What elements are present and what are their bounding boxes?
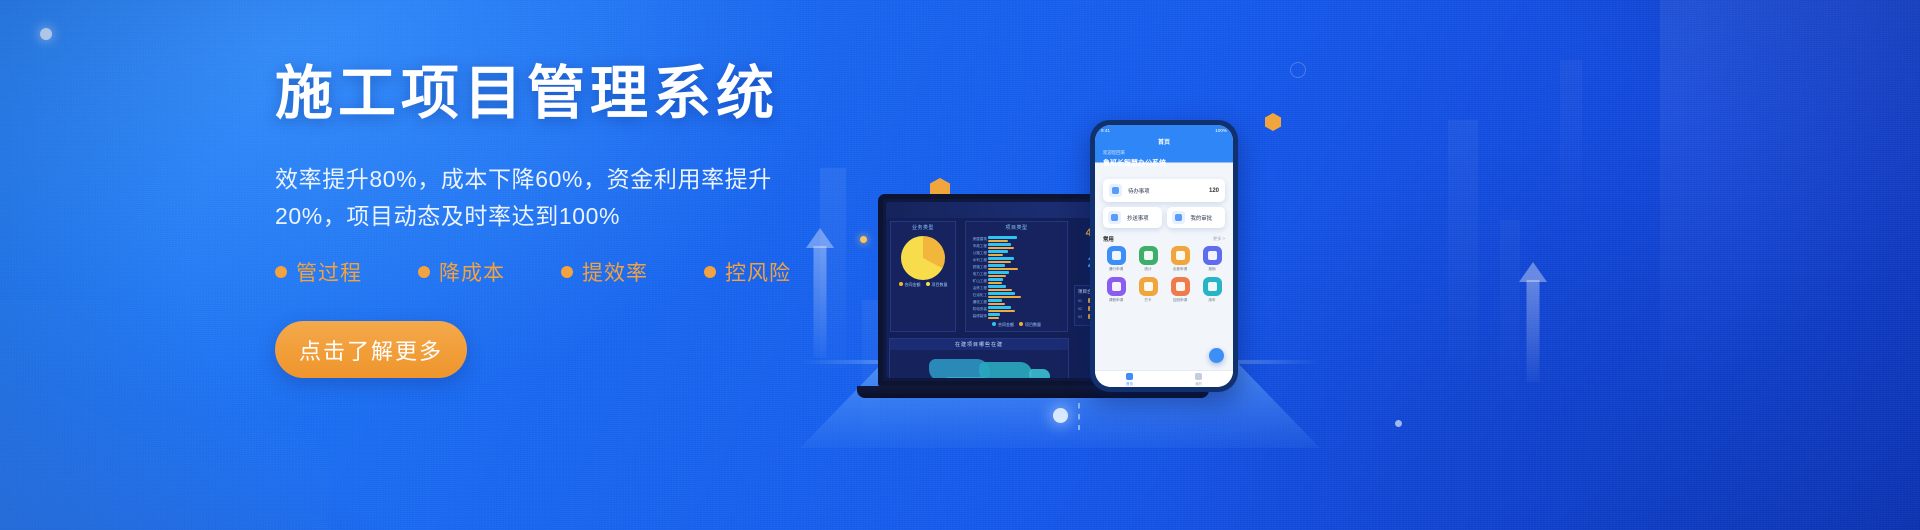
bar-series-b bbox=[988, 310, 1015, 312]
deco-panel bbox=[1660, 0, 1920, 530]
floating-action-button[interactable] bbox=[1209, 348, 1224, 363]
quick-action-label: 我的审批 bbox=[1191, 214, 1221, 222]
app-grid-item[interactable]: 加班申请 bbox=[1165, 277, 1195, 303]
app-label: 出差申请 bbox=[1165, 267, 1195, 272]
app-icon bbox=[1203, 277, 1222, 296]
map-panel: 在建项目哪些在建 bbox=[889, 338, 1069, 378]
tab-profile[interactable]: 我的 bbox=[1164, 371, 1233, 387]
quick-action-label: 抄送事项 bbox=[1127, 214, 1157, 222]
bar-series-b bbox=[988, 282, 1002, 284]
bar-chart-row: 房屋建筑 bbox=[988, 236, 1063, 242]
app-label: 打卡 bbox=[1133, 298, 1163, 303]
app-icon bbox=[1171, 277, 1190, 296]
bar-series-b bbox=[988, 296, 1021, 298]
map-title: 在建项目哪些在建 bbox=[890, 339, 1068, 350]
bar-chart-row: 市政工程 bbox=[988, 243, 1063, 249]
app-label: 通行申请 bbox=[1101, 267, 1131, 272]
pie-legend: 合同金额 项目数量 bbox=[891, 282, 955, 291]
hero-subtitle: 效率提升80%，成本下降60%，资金利用率提升20%，项目动态及时率达到100% bbox=[275, 161, 795, 236]
deco-dot bbox=[40, 28, 52, 40]
app-grid-item[interactable]: 统计 bbox=[1133, 246, 1163, 272]
bullet-label: 管过程 bbox=[296, 257, 362, 287]
bar-chart-row: 装修装饰 bbox=[988, 313, 1063, 319]
pie-chart bbox=[901, 236, 945, 280]
app-icon bbox=[1139, 277, 1158, 296]
rank-number: 01 bbox=[1078, 299, 1086, 303]
bar-series-b bbox=[988, 240, 1008, 242]
send-icon bbox=[1108, 211, 1121, 224]
legend-item: 合同金额 bbox=[899, 282, 921, 288]
charts-row: 业务类型 合同金额 项目数量 项目类型 房屋建筑市政工程公路工程水 bbox=[886, 218, 1072, 335]
app-icon bbox=[1139, 246, 1158, 265]
bar-row-label: 装修装饰 bbox=[967, 314, 987, 319]
bar-series-b bbox=[988, 247, 1014, 249]
legend-item: 项目数量 bbox=[926, 282, 948, 288]
bar-series-a bbox=[988, 250, 1008, 252]
bar-series-b bbox=[988, 317, 999, 319]
approval-icon bbox=[1172, 211, 1185, 224]
bar-series-a bbox=[988, 306, 1011, 308]
pie-chart-title: 业务类型 bbox=[891, 222, 955, 233]
bar-row-label: 房屋建筑 bbox=[967, 237, 987, 242]
bar-chart-row: 公路工程 bbox=[988, 250, 1063, 256]
app-label: 报销 bbox=[1197, 267, 1227, 272]
bar-chart-row: 矿山工程 bbox=[988, 278, 1063, 284]
bar-series-a bbox=[988, 292, 1015, 294]
dashboard-left-column: 业务类型 合同金额 项目数量 项目类型 房屋建筑市政工程公路工程水 bbox=[886, 218, 1072, 378]
bar-series-a bbox=[988, 257, 1014, 259]
bar-series-a bbox=[988, 264, 1005, 266]
bar-chart-title: 项目类型 bbox=[966, 222, 1067, 233]
status-battery: 100% bbox=[1215, 128, 1227, 133]
bar-row-label: 石油化工 bbox=[967, 293, 987, 298]
tab-label: 首页 bbox=[1095, 381, 1164, 386]
phone-tabbar: 首页 我的 bbox=[1095, 370, 1233, 387]
section-label: 常用 bbox=[1103, 235, 1114, 243]
deco-bar bbox=[1500, 220, 1520, 400]
map-region bbox=[1029, 369, 1050, 378]
app-grid-item[interactable]: 打卡 bbox=[1133, 277, 1163, 303]
app-grid-item[interactable]: 通行申请 bbox=[1101, 246, 1131, 272]
bullet-label: 降成本 bbox=[439, 257, 505, 287]
bullet-item: 提效率 bbox=[561, 257, 648, 287]
rank-number: 03 bbox=[1078, 315, 1086, 319]
bullet-item: 控风险 bbox=[704, 257, 791, 287]
bar-series-b bbox=[988, 275, 1006, 277]
app-grid: 通行申请统计出差申请报销请假申请打卡加班申请用车 bbox=[1101, 246, 1227, 303]
bullet-dot-icon bbox=[418, 266, 430, 278]
welcome-text: 欢迎您回来 bbox=[1103, 150, 1225, 156]
quick-action-cc[interactable]: 抄送事项 bbox=[1103, 207, 1162, 228]
bar-series-a bbox=[988, 236, 1017, 238]
phone-hero: 欢迎您回来 鲁班长智慧办公系统 bbox=[1095, 150, 1233, 174]
china-map bbox=[890, 350, 1068, 378]
bar-series-a bbox=[988, 271, 1009, 273]
bar-series-b bbox=[988, 261, 1011, 263]
status-time: 9:41 bbox=[1101, 128, 1110, 133]
app-label: 请假申请 bbox=[1101, 298, 1131, 303]
app-icon bbox=[1171, 246, 1190, 265]
clock-icon bbox=[1109, 184, 1122, 197]
deco-bar bbox=[1560, 60, 1582, 220]
bar-row-label: 公路工程 bbox=[967, 251, 987, 256]
phone-header-title: 首页 bbox=[1095, 136, 1233, 150]
bar-chart-row: 石油化工 bbox=[988, 292, 1063, 298]
rank-number: 02 bbox=[1078, 307, 1086, 311]
app-grid-item[interactable]: 报销 bbox=[1197, 246, 1227, 272]
bullet-item: 管过程 bbox=[275, 257, 362, 287]
bar-chart-panel: 项目类型 房屋建筑市政工程公路工程水利工程铁路工程电力工程矿山工程冶炼工程石油化… bbox=[965, 221, 1068, 332]
bar-row-label: 通信工程 bbox=[967, 300, 987, 305]
app-icon bbox=[1107, 246, 1126, 265]
bar-series-a bbox=[988, 285, 1006, 287]
bar-row-label: 水利工程 bbox=[967, 258, 987, 263]
deco-arrow-up-icon bbox=[1518, 262, 1548, 382]
bar-chart-row: 通信工程 bbox=[988, 299, 1063, 305]
bar-row-label: 市政工程 bbox=[967, 244, 987, 249]
bar-series-a bbox=[988, 278, 1003, 280]
bar-row-label: 矿山工程 bbox=[967, 279, 987, 284]
bullet-dot-icon bbox=[704, 266, 716, 278]
phone-status-bar: 9:41 100% bbox=[1095, 125, 1233, 136]
deco-ring bbox=[1290, 62, 1306, 78]
bar-chart-row: 水利工程 bbox=[988, 257, 1063, 263]
bar-series-a bbox=[988, 313, 1000, 315]
pie-chart-panel: 业务类型 合同金额 项目数量 bbox=[890, 221, 956, 332]
bar-series-b bbox=[988, 268, 1018, 270]
bar-chart-row: 冶炼工程 bbox=[988, 285, 1063, 291]
app-label: 加班申请 bbox=[1165, 298, 1195, 303]
app-label: 统计 bbox=[1133, 267, 1163, 272]
bullet-dot-icon bbox=[275, 266, 287, 278]
user-icon bbox=[1195, 373, 1202, 380]
app-icon bbox=[1107, 277, 1126, 296]
bar-row-label: 电力工程 bbox=[967, 272, 987, 277]
bar-series-b bbox=[988, 254, 1003, 256]
legend-item: 项目数量 bbox=[1019, 322, 1041, 328]
quick-action-approval[interactable]: 我的审批 bbox=[1167, 207, 1226, 228]
map-region bbox=[979, 362, 1032, 378]
phone-device: 9:41 100% 首页 欢迎您回来 鲁班长智慧办公系统 待办事项 120 抄送… bbox=[1090, 120, 1238, 392]
app-label: 用车 bbox=[1197, 298, 1227, 303]
section-more-link[interactable]: 更多 > bbox=[1213, 236, 1225, 242]
device-stage: 市场管理报表 业务类型 合同金额 项目数量 bbox=[790, 110, 1410, 450]
todo-count: 120 bbox=[1209, 188, 1219, 194]
bar-legend: 合同金额 项目数量 bbox=[966, 322, 1067, 331]
legend-item: 合同金额 bbox=[992, 322, 1014, 328]
bar-row-label: 机电安装 bbox=[967, 307, 987, 312]
app-grid-item[interactable]: 用车 bbox=[1197, 277, 1227, 303]
bar-series-b bbox=[988, 289, 1012, 291]
bar-chart-row: 电力工程 bbox=[988, 271, 1063, 277]
quick-actions: 抄送事项 我的审批 bbox=[1103, 207, 1225, 228]
app-grid-item[interactable]: 请假申请 bbox=[1101, 277, 1131, 303]
learn-more-button[interactable]: 点击了解更多 bbox=[275, 321, 467, 378]
bullet-dot-icon bbox=[561, 266, 573, 278]
app-icon bbox=[1203, 246, 1222, 265]
phone-screen: 9:41 100% 首页 欢迎您回来 鲁班长智慧办公系统 待办事项 120 抄送… bbox=[1095, 125, 1233, 387]
bullet-label: 控风险 bbox=[725, 257, 791, 287]
tab-home[interactable]: 首页 bbox=[1095, 371, 1164, 387]
bar-series-a bbox=[988, 243, 1011, 245]
section-header: 常用 更多 > bbox=[1103, 235, 1225, 243]
bar-chart: 房屋建筑市政工程公路工程水利工程铁路工程电力工程矿山工程冶炼工程石油化工通信工程… bbox=[966, 233, 1067, 322]
bar-row-label: 铁路工程 bbox=[967, 265, 987, 270]
bar-series-a bbox=[988, 299, 1002, 301]
todo-label: 待办事项 bbox=[1128, 187, 1203, 195]
bar-chart-row: 铁路工程 bbox=[988, 264, 1063, 270]
app-grid-item[interactable]: 出差申请 bbox=[1165, 246, 1195, 272]
tab-label: 我的 bbox=[1164, 381, 1233, 386]
home-icon bbox=[1126, 373, 1133, 380]
bar-series-b bbox=[988, 303, 1005, 305]
bar-row-label: 冶炼工程 bbox=[967, 286, 987, 291]
deco-bar bbox=[1448, 120, 1478, 370]
bar-chart-row: 机电安装 bbox=[988, 306, 1063, 312]
bullet-item: 降成本 bbox=[418, 257, 505, 287]
hero-banner: 施工项目管理系统 效率提升80%，成本下降60%，资金利用率提升20%，项目动态… bbox=[0, 0, 1920, 530]
bullet-label: 提效率 bbox=[582, 257, 648, 287]
system-name: 鲁班长智慧办公系统 bbox=[1103, 158, 1225, 168]
todo-card[interactable]: 待办事项 120 bbox=[1103, 179, 1225, 202]
